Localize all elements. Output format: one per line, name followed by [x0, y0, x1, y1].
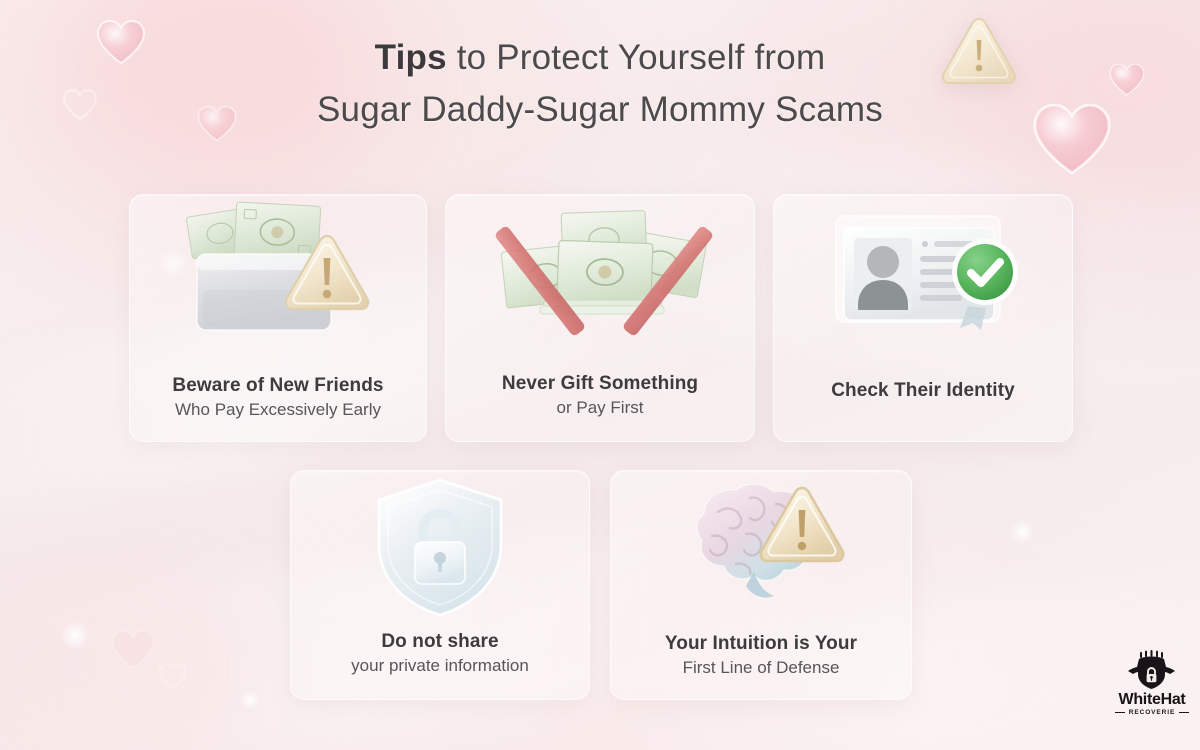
page-title-line2: Sugar Daddy-Sugar Mommy Scams [0, 84, 1200, 136]
divider-right [1179, 712, 1189, 713]
heart-icon [158, 662, 188, 690]
tip-card-subtitle: Who Pay Excessively Early [138, 398, 418, 422]
heart-icon [110, 628, 156, 671]
page-title-emphasis: Tips [375, 38, 447, 77]
sparkle [60, 620, 90, 650]
brain-with-warning-icon [611, 471, 911, 623]
page-title-line1: Tips to Protect Yourself from [0, 32, 1200, 84]
tip-card-your-intuition[interactable]: Your Intuition is Your First Line of Def… [610, 470, 912, 700]
tip-card-title: Beware of New Friends [138, 373, 418, 398]
tip-card-do-not-share[interactable]: Do not share your private information [290, 470, 590, 700]
page-title-rest: to Protect Yourself from [447, 38, 826, 77]
tip-card-title: Never Gift Something [454, 371, 746, 396]
brand-subtitle: RECOVERIE [1129, 709, 1175, 716]
tip-card-labels: Beware of New Friends Who Pay Excessivel… [138, 373, 418, 422]
brand-subline: RECOVERIE [1112, 709, 1192, 716]
id-card-verified-icon [774, 195, 1072, 360]
tip-card-labels: Do not share your private information [299, 629, 581, 678]
background-glow [0, 560, 280, 750]
tip-card-beware-of-new-friends[interactable]: Beware of New Friends Who Pay Excessivel… [129, 194, 427, 442]
tip-card-title: Check Their Identity [782, 378, 1064, 403]
hat-shield-lock-logo-icon [1127, 650, 1177, 690]
money-crossed-out-icon [446, 195, 754, 360]
tip-card-never-gift-something[interactable]: Never Gift Something or Pay First [445, 194, 755, 442]
wallet-with-money-and-warning-icon [130, 195, 426, 360]
tip-card-title: Do not share [299, 629, 581, 654]
page-title: Tips to Protect Yourself from Sugar Dadd… [0, 32, 1200, 136]
tip-card-labels: Check Their Identity [782, 378, 1064, 403]
brand-logo[interactable]: WhiteHat RECOVERIE [1112, 650, 1192, 734]
tip-card-title: Your Intuition is Your [619, 631, 903, 656]
tip-card-subtitle: First Line of Defense [619, 656, 903, 680]
tip-card-check-their-identity[interactable]: Check Their Identity [773, 194, 1073, 442]
tip-card-labels: Your Intuition is Your First Line of Def… [619, 631, 903, 680]
brand-wordmark: WhiteHat [1112, 691, 1192, 708]
divider-left [1115, 712, 1125, 713]
tip-card-subtitle: your private information [299, 654, 581, 678]
tip-card-subtitle: or Pay First [454, 396, 746, 420]
sparkle [1010, 520, 1034, 544]
tip-card-labels: Never Gift Something or Pay First [454, 371, 746, 420]
shield-lock-icon [291, 471, 589, 623]
poster-canvas: Tips to Protect Yourself from Sugar Dadd… [0, 0, 1200, 750]
sparkle [240, 690, 260, 710]
